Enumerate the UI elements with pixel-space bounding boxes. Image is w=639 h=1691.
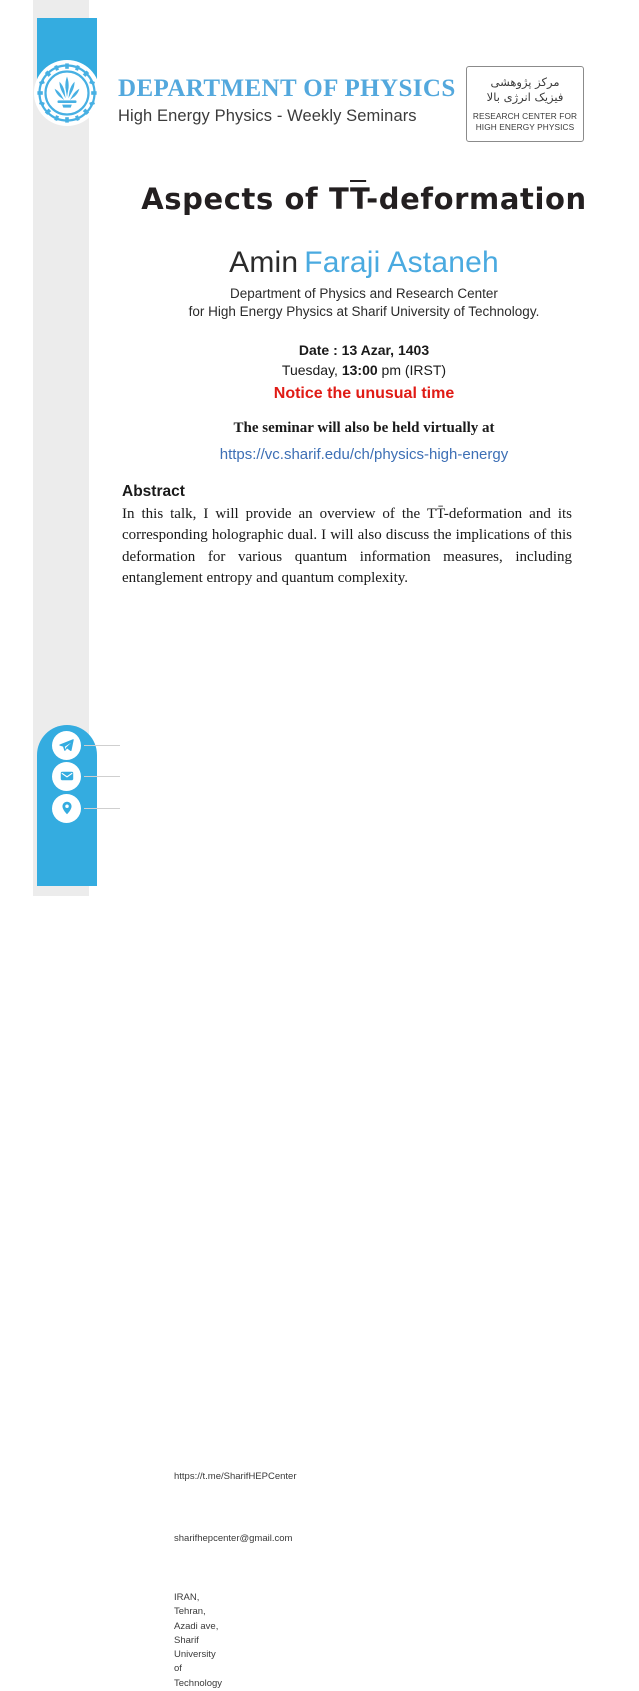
contact-row[interactable]: sharifhepcenter@gmail.com: [52, 761, 81, 791]
address-line-2: Sharif University of Technology: [174, 1634, 222, 1691]
telegram-paper-plane-icon[interactable]: [52, 731, 81, 760]
department-subtitle: High Energy Physics - Weekly Seminars: [118, 107, 458, 126]
research-center-english-line-2: HIGH ENERGY PHYSICS: [476, 122, 575, 133]
seminar-title-suffix: -deformation: [366, 182, 587, 216]
speaker-name: AminFaraji Astaneh: [89, 246, 639, 280]
abstract-body: In this talk, I will provide an overview…: [122, 504, 572, 589]
location-pin-icon: [52, 794, 81, 823]
seminar-title-overbar-t: T: [350, 182, 366, 216]
virtual-meeting-link[interactable]: https://vc.sharif.edu/ch/physics-high-en…: [89, 444, 639, 467]
seminar-title: Aspects of TT-deformation: [89, 182, 639, 216]
virtual-attendance-block: The seminar will also be held virtually …: [89, 417, 639, 466]
contact-connector-line: [84, 745, 120, 746]
unusual-time-notice: Notice the unusual time: [89, 382, 639, 405]
research-center-persian-line-1: مرکز پژوهشی: [491, 75, 560, 91]
sharif-university-gear-emblem-icon: [34, 60, 100, 126]
research-center-persian-line-2: فیزیک انرژی بالا: [487, 90, 564, 106]
seminar-time-value: 13:00: [342, 362, 378, 378]
contact-text[interactable]: https://t.me/SharifHEPCenter: [174, 1470, 297, 1484]
virtual-attendance-label: The seminar will also be held virtually …: [89, 417, 639, 440]
email-address[interactable]: sharifhepcenter@gmail.com: [174, 1532, 292, 1546]
contact-row: IRAN, Tehran, Azadi ave, Sharif Universi…: [52, 793, 81, 823]
seminar-time-zone: pm (IRST): [382, 362, 447, 378]
contact-connector-line: [84, 808, 120, 809]
telegram-link[interactable]: https://t.me/SharifHEPCenter: [174, 1470, 297, 1484]
contact-text[interactable]: sharifhepcenter@gmail.com: [174, 1532, 292, 1546]
contact-row[interactable]: https://t.me/SharifHEPCenter: [52, 730, 81, 760]
seminar-weekday: Tuesday,: [282, 362, 338, 378]
speaker-last-name: Faraji Astaneh: [304, 246, 499, 279]
contact-text: IRAN, Tehran, Azadi ave, Sharif Universi…: [174, 1591, 222, 1691]
contact-connector-line: [84, 776, 120, 777]
research-center-english-line-1: RESEARCH CENTER FOR: [473, 111, 577, 122]
seminar-title-prefix: Aspects of T: [141, 182, 350, 216]
affiliation-line-2: for High Energy Physics at Sharif Univer…: [89, 303, 639, 321]
date-time-block: Date : 13 Azar, 1403 Tuesday, 13:00 pm (…: [89, 340, 639, 405]
speaker-first-name: Amin: [229, 246, 298, 279]
abstract-heading: Abstract: [122, 483, 185, 501]
seminar-date: Date : 13 Azar, 1403: [89, 340, 639, 360]
address-line-1: IRAN, Tehran, Azadi ave,: [174, 1591, 222, 1634]
envelope-icon[interactable]: [52, 762, 81, 791]
speaker-affiliation: Department of Physics and Research Cente…: [89, 285, 639, 321]
affiliation-line-1: Department of Physics and Research Cente…: [89, 285, 639, 303]
research-center-badge: مرکز پژوهشی فیزیک انرژی بالا RESEARCH CE…: [466, 66, 584, 142]
department-title: DEPARTMENT OF PHYSICS: [118, 76, 458, 102]
seminar-time: Tuesday, 13:00 pm (IRST): [89, 360, 639, 380]
header-text-group: DEPARTMENT OF PHYSICS High Energy Physic…: [118, 76, 458, 126]
